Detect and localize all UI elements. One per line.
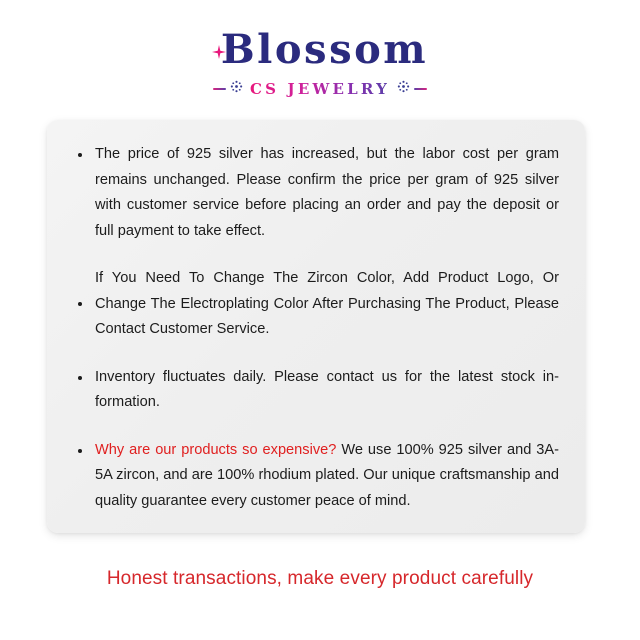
page-title: Blossom: [221, 27, 428, 73]
ornament-dash-right-icon: [414, 88, 427, 90]
brand-header: Blossom CS JEWELRY: [0, 26, 640, 100]
notice-card: The price of 925 silver has increased, b…: [47, 120, 585, 533]
list-item: The price of 925 silver has increased, b…: [73, 142, 559, 244]
diamond-sparkle-icon: [212, 45, 226, 59]
notice-list: The price of 925 silver has increased, b…: [73, 142, 559, 514]
list-item: Why are our products so expensive? We us…: [73, 438, 559, 515]
list-item: Inventory fluctuates daily. Please conta…: [73, 365, 559, 416]
notice-text: The price of 925 silver has increased, b…: [95, 146, 559, 239]
brand-subtitle: CS JEWELRY: [250, 80, 390, 98]
snowflake-ornament-left-icon: [230, 80, 243, 98]
brand-title-row: Blossom: [0, 26, 640, 74]
notice-text: If You Need To Change The Zircon Color, …: [95, 270, 559, 337]
list-item: If You Need To Change The Zircon Color, …: [73, 266, 559, 343]
bullet-dot-icon: [78, 376, 82, 380]
bullet-dot-icon: [78, 449, 82, 453]
ornament-dash-left-icon: [213, 88, 226, 90]
brand-subtitle-row: CS JEWELRY: [0, 78, 640, 100]
bullet-dot-icon: [78, 153, 82, 157]
snowflake-ornament-right-icon: [397, 80, 410, 98]
bullet-dot-icon: [78, 302, 82, 306]
notice-text: Inventory fluctuates daily. Please conta…: [95, 369, 559, 411]
footer-tagline: Honest transactions, make every product …: [0, 568, 640, 590]
notice-highlight: Why are our products so expensive?: [95, 442, 336, 458]
